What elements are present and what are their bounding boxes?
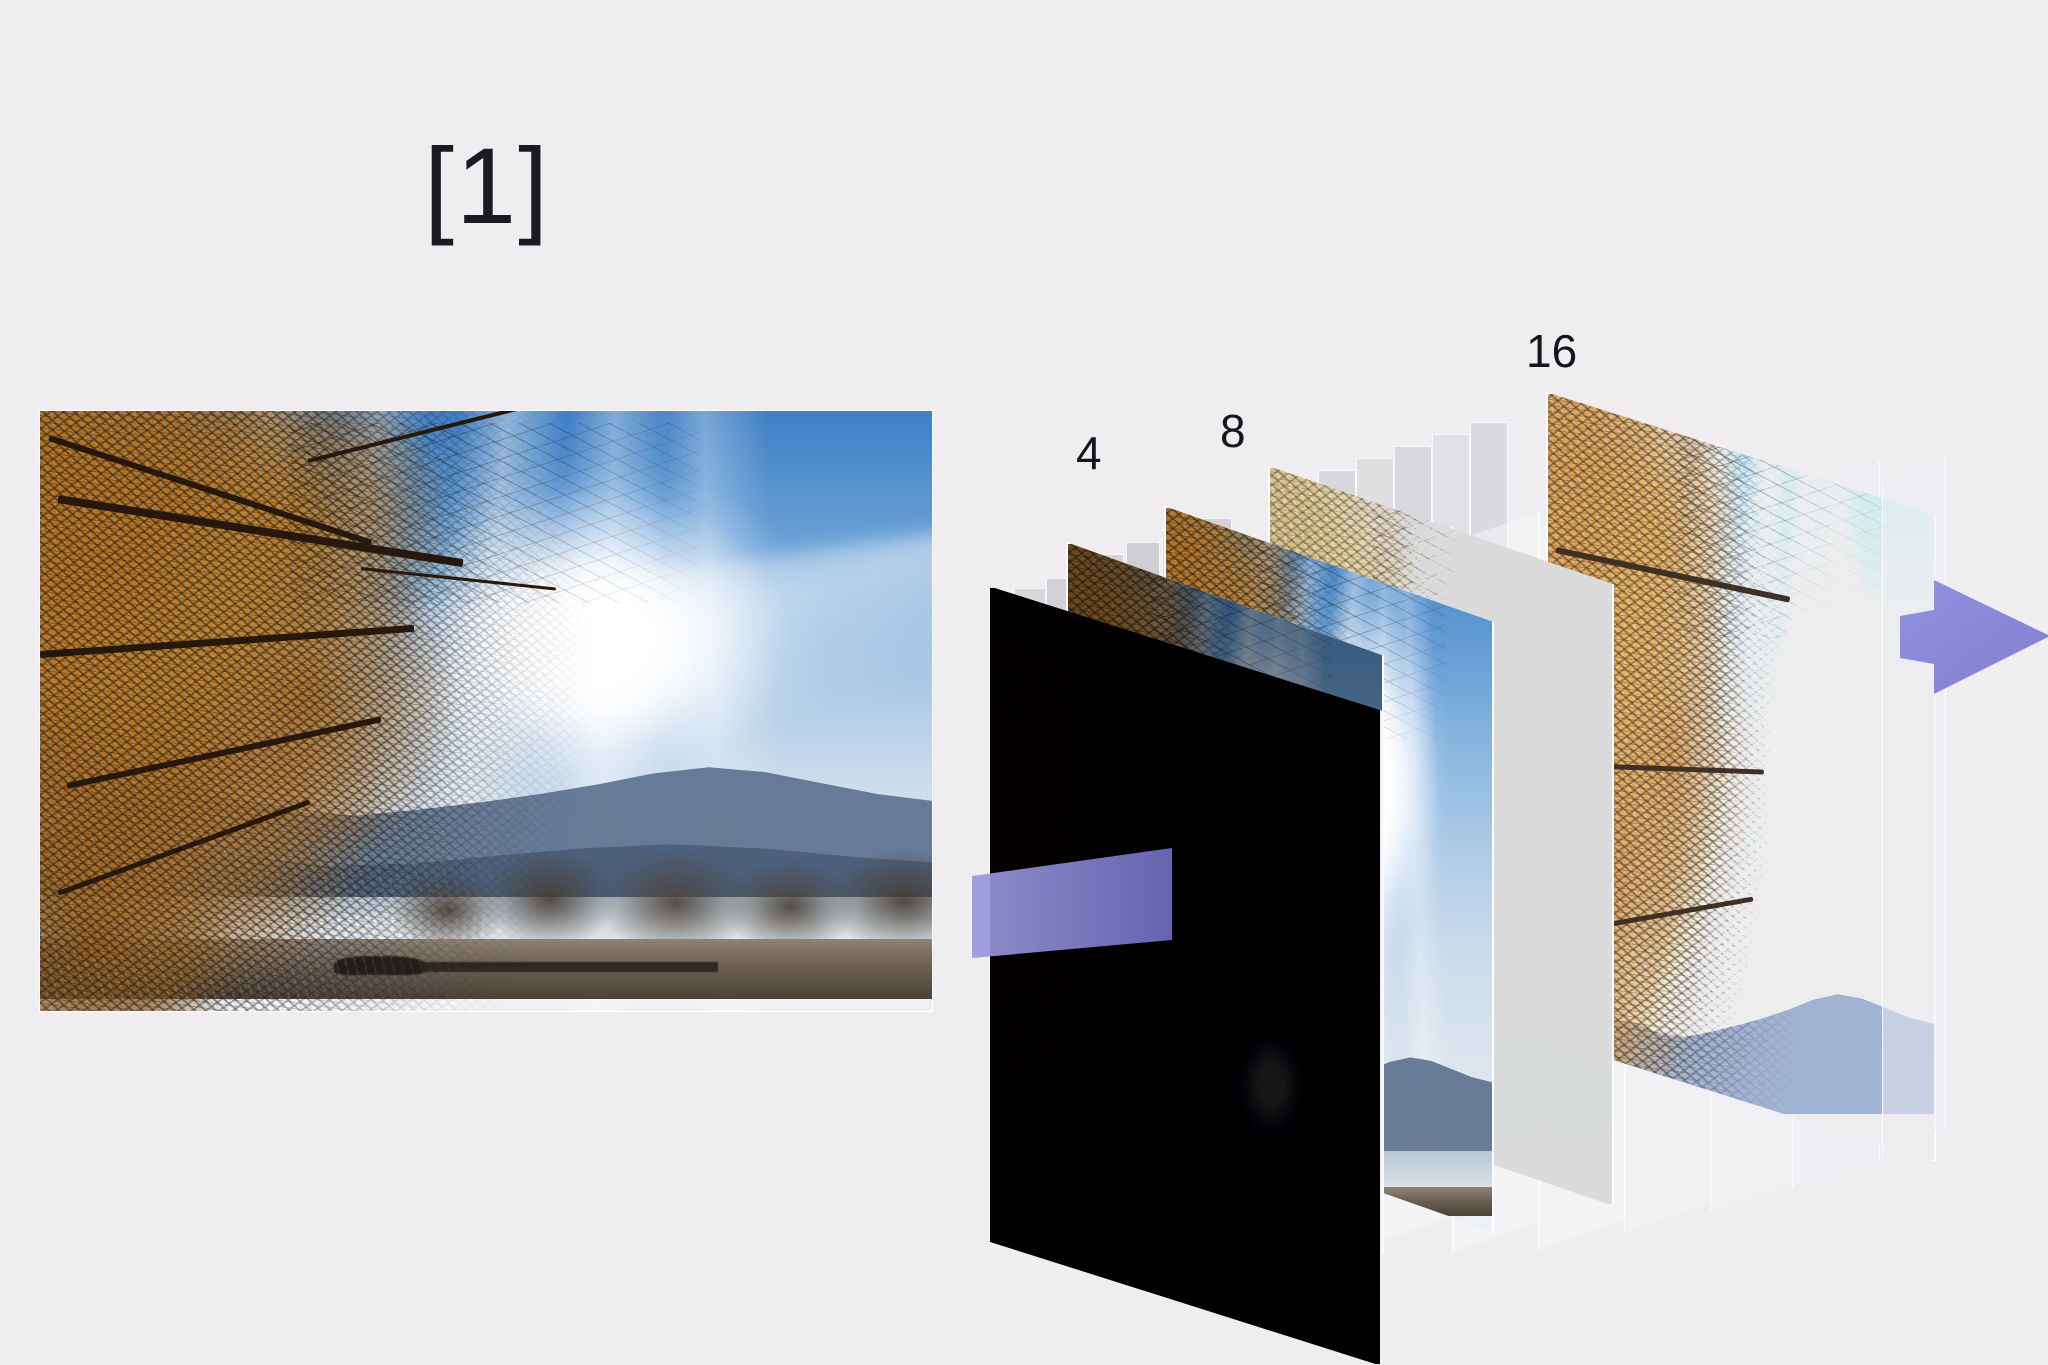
slide-canvas: [1] [0,0,2048,1365]
reference-photograph [40,411,932,1011]
exposure-frame-dark[interactable] [988,586,1382,1365]
stack-label-16: 16 [1526,328,1577,374]
frame-scene [990,588,1380,1364]
figure-label: [1] [424,132,550,240]
photo-scene [40,411,932,1011]
flow-arrow-tail [972,848,1172,968]
stack-label-8: 8 [1220,408,1246,454]
exposure-frame-stack: 4 8 16 [980,330,2048,1110]
bare-twig-cluster [1679,409,1887,639]
stack-label-4: 4 [1076,430,1102,476]
translucent-frame [1882,456,1946,1156]
flow-arrow-head [1900,578,2048,696]
